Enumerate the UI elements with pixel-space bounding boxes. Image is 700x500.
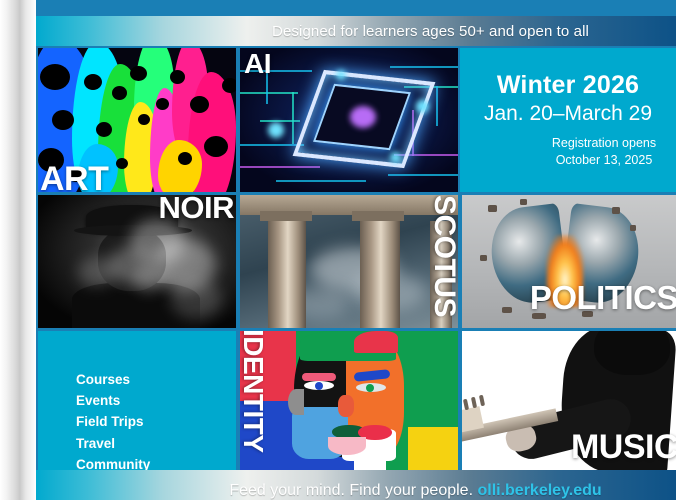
scotus-artwork xyxy=(240,195,458,328)
tile-politics[interactable]: POLITICS xyxy=(462,195,676,328)
footer-band: Feed your mind. Find your people. olli.b… xyxy=(35,470,676,500)
tile-label-scotus: SCOTUS xyxy=(429,195,458,317)
tile-identity[interactable]: IDENTITY xyxy=(240,331,458,470)
page-right-margin xyxy=(676,0,700,500)
identity-face xyxy=(288,333,414,470)
ai-artwork xyxy=(240,48,458,192)
page-binding-shadow xyxy=(0,0,36,500)
footer-tagline: Feed your mind. Find your people. xyxy=(229,482,473,499)
tile-ai[interactable]: AI xyxy=(240,48,458,192)
promo-dates: Jan. 20–March 29 xyxy=(484,102,652,126)
offerings-panel[interactable]: Courses Events Field Trips Travel Commun… xyxy=(38,331,236,470)
list-item[interactable]: Courses xyxy=(76,371,150,389)
tile-label-art: ART xyxy=(40,162,108,192)
offerings-list: Courses Events Field Trips Travel Commun… xyxy=(76,371,150,470)
tile-music[interactable]: MUSIC xyxy=(462,331,676,470)
promo-registration-line1: Registration opens xyxy=(552,135,656,152)
header-tagline: Designed for learners ages 50+ and open … xyxy=(272,23,589,40)
tile-label-noir: NOIR xyxy=(159,195,235,223)
list-item[interactable]: Community xyxy=(76,456,150,470)
tile-label-politics: POLITICS xyxy=(530,281,676,314)
promo-term: Winter 2026 xyxy=(497,71,639,100)
tile-label-music: MUSIC xyxy=(571,430,676,464)
list-item[interactable]: Events xyxy=(76,392,150,410)
tile-scotus[interactable]: SCOTUS xyxy=(240,195,458,328)
tile-label-ai: AI xyxy=(244,50,271,78)
list-item[interactable]: Travel xyxy=(76,435,150,453)
footer-content: Feed your mind. Find your people. olli.b… xyxy=(229,482,601,500)
list-item[interactable]: Field Trips xyxy=(76,413,150,431)
footer-url[interactable]: olli.berkeley.edu xyxy=(477,482,601,499)
tile-art[interactable]: ART xyxy=(38,48,236,192)
promo-registration-line2: October 13, 2025 xyxy=(552,152,656,169)
promo-panel[interactable]: Winter 2026 Jan. 20–March 29 Registratio… xyxy=(460,48,676,192)
identity-artwork xyxy=(240,331,458,470)
tile-label-identity: IDENTITY xyxy=(240,331,267,453)
promo-registration: Registration opens October 13, 2025 xyxy=(480,135,656,169)
tile-noir[interactable]: NOIR xyxy=(38,195,236,328)
header-band: Designed for learners ages 50+ and open … xyxy=(35,16,676,46)
flyer-canvas: Designed for learners ages 50+ and open … xyxy=(35,0,676,500)
